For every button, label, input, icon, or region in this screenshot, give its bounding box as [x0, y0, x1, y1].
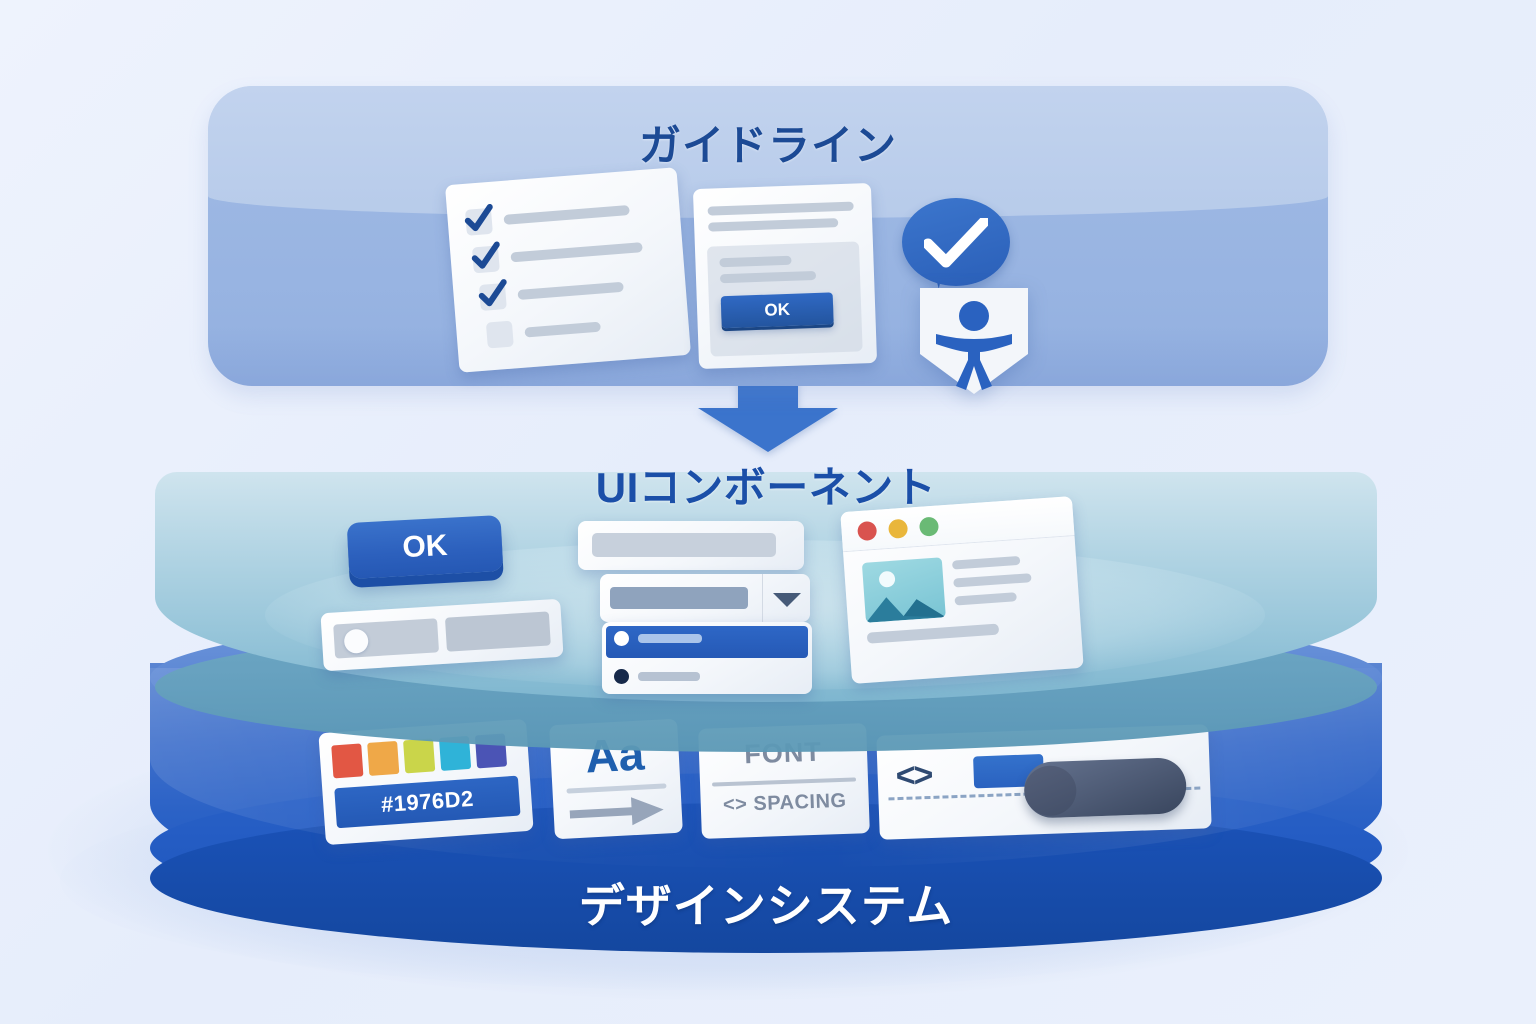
list-item-selected[interactable] — [606, 626, 808, 658]
list-item-label-selected — [638, 634, 702, 643]
layer-title-design-system: デザインシステム — [150, 870, 1382, 936]
layer-title-ui-components: UIコンボーネント — [155, 454, 1377, 515]
swatch-orange — [367, 741, 399, 776]
code-brackets-icon: <> — [895, 756, 932, 796]
dialog-panel: OK — [707, 241, 863, 356]
dialog-panel-line-2 — [720, 271, 816, 283]
checklist-line-2 — [510, 242, 642, 262]
dialog-text-line-1 — [708, 202, 854, 216]
checklist-card[interactable] — [445, 167, 691, 373]
dropdown-value — [610, 587, 748, 609]
ok-button[interactable]: OK — [347, 515, 504, 579]
speech-bubble-check[interactable] — [902, 198, 1010, 286]
arrow-right-icon — [569, 793, 667, 830]
accessibility-shield[interactable] — [914, 282, 1034, 398]
mountain-icon — [864, 583, 946, 622]
browser-window-card[interactable] — [840, 496, 1083, 684]
check-icon-3 — [477, 279, 509, 311]
dialog-ok-button[interactable]: OK — [721, 292, 834, 328]
browser-text-line-2 — [953, 573, 1031, 587]
browser-text-line-3 — [954, 592, 1016, 605]
type-rule — [566, 783, 666, 793]
sun-icon — [879, 571, 896, 588]
chevron-down-icon[interactable] — [772, 592, 802, 608]
image-placeholder — [862, 557, 946, 622]
dropdown-select[interactable] — [600, 574, 810, 622]
browser-text-line-4 — [867, 624, 999, 644]
swatch-lime — [403, 738, 435, 773]
font-card-subtitle: <> SPACING — [700, 789, 869, 818]
checklist-line-3 — [517, 282, 623, 300]
browser-text-line-1 — [952, 556, 1020, 570]
font-card-rule — [712, 777, 856, 786]
token-pill-knob — [1023, 765, 1077, 817]
swatch-red — [331, 743, 363, 778]
option-list[interactable] — [602, 622, 812, 694]
checklist-line-4 — [524, 322, 601, 338]
check-icon — [924, 218, 988, 268]
list-item-label-unselected — [638, 672, 700, 681]
dialog-card[interactable]: OK — [693, 183, 877, 369]
checklist-line-1 — [503, 205, 629, 225]
dialog-text-line-2 — [708, 218, 838, 232]
segment-right[interactable] — [445, 611, 551, 651]
check-icon-1 — [463, 204, 495, 236]
check-icon-2 — [470, 241, 502, 273]
text-input-field[interactable] — [592, 533, 776, 557]
design-system-diagram: デザインシステム #1976D2 Aa FONT <> SPACING <> U… — [0, 0, 1536, 1024]
accessibility-head — [959, 301, 989, 331]
token-pill-shape — [1023, 757, 1187, 819]
checkbox-4-unchecked[interactable] — [486, 321, 514, 349]
dropdown-divider — [762, 574, 763, 622]
radio-selected-icon[interactable] — [614, 631, 629, 646]
text-input[interactable] — [578, 521, 804, 570]
radio-unselected-icon[interactable] — [614, 669, 629, 684]
hex-color-label: #1976D2 — [334, 776, 520, 829]
layer-title-guidelines: ガイドライン — [208, 112, 1328, 173]
dialog-panel-line-1 — [719, 256, 791, 268]
